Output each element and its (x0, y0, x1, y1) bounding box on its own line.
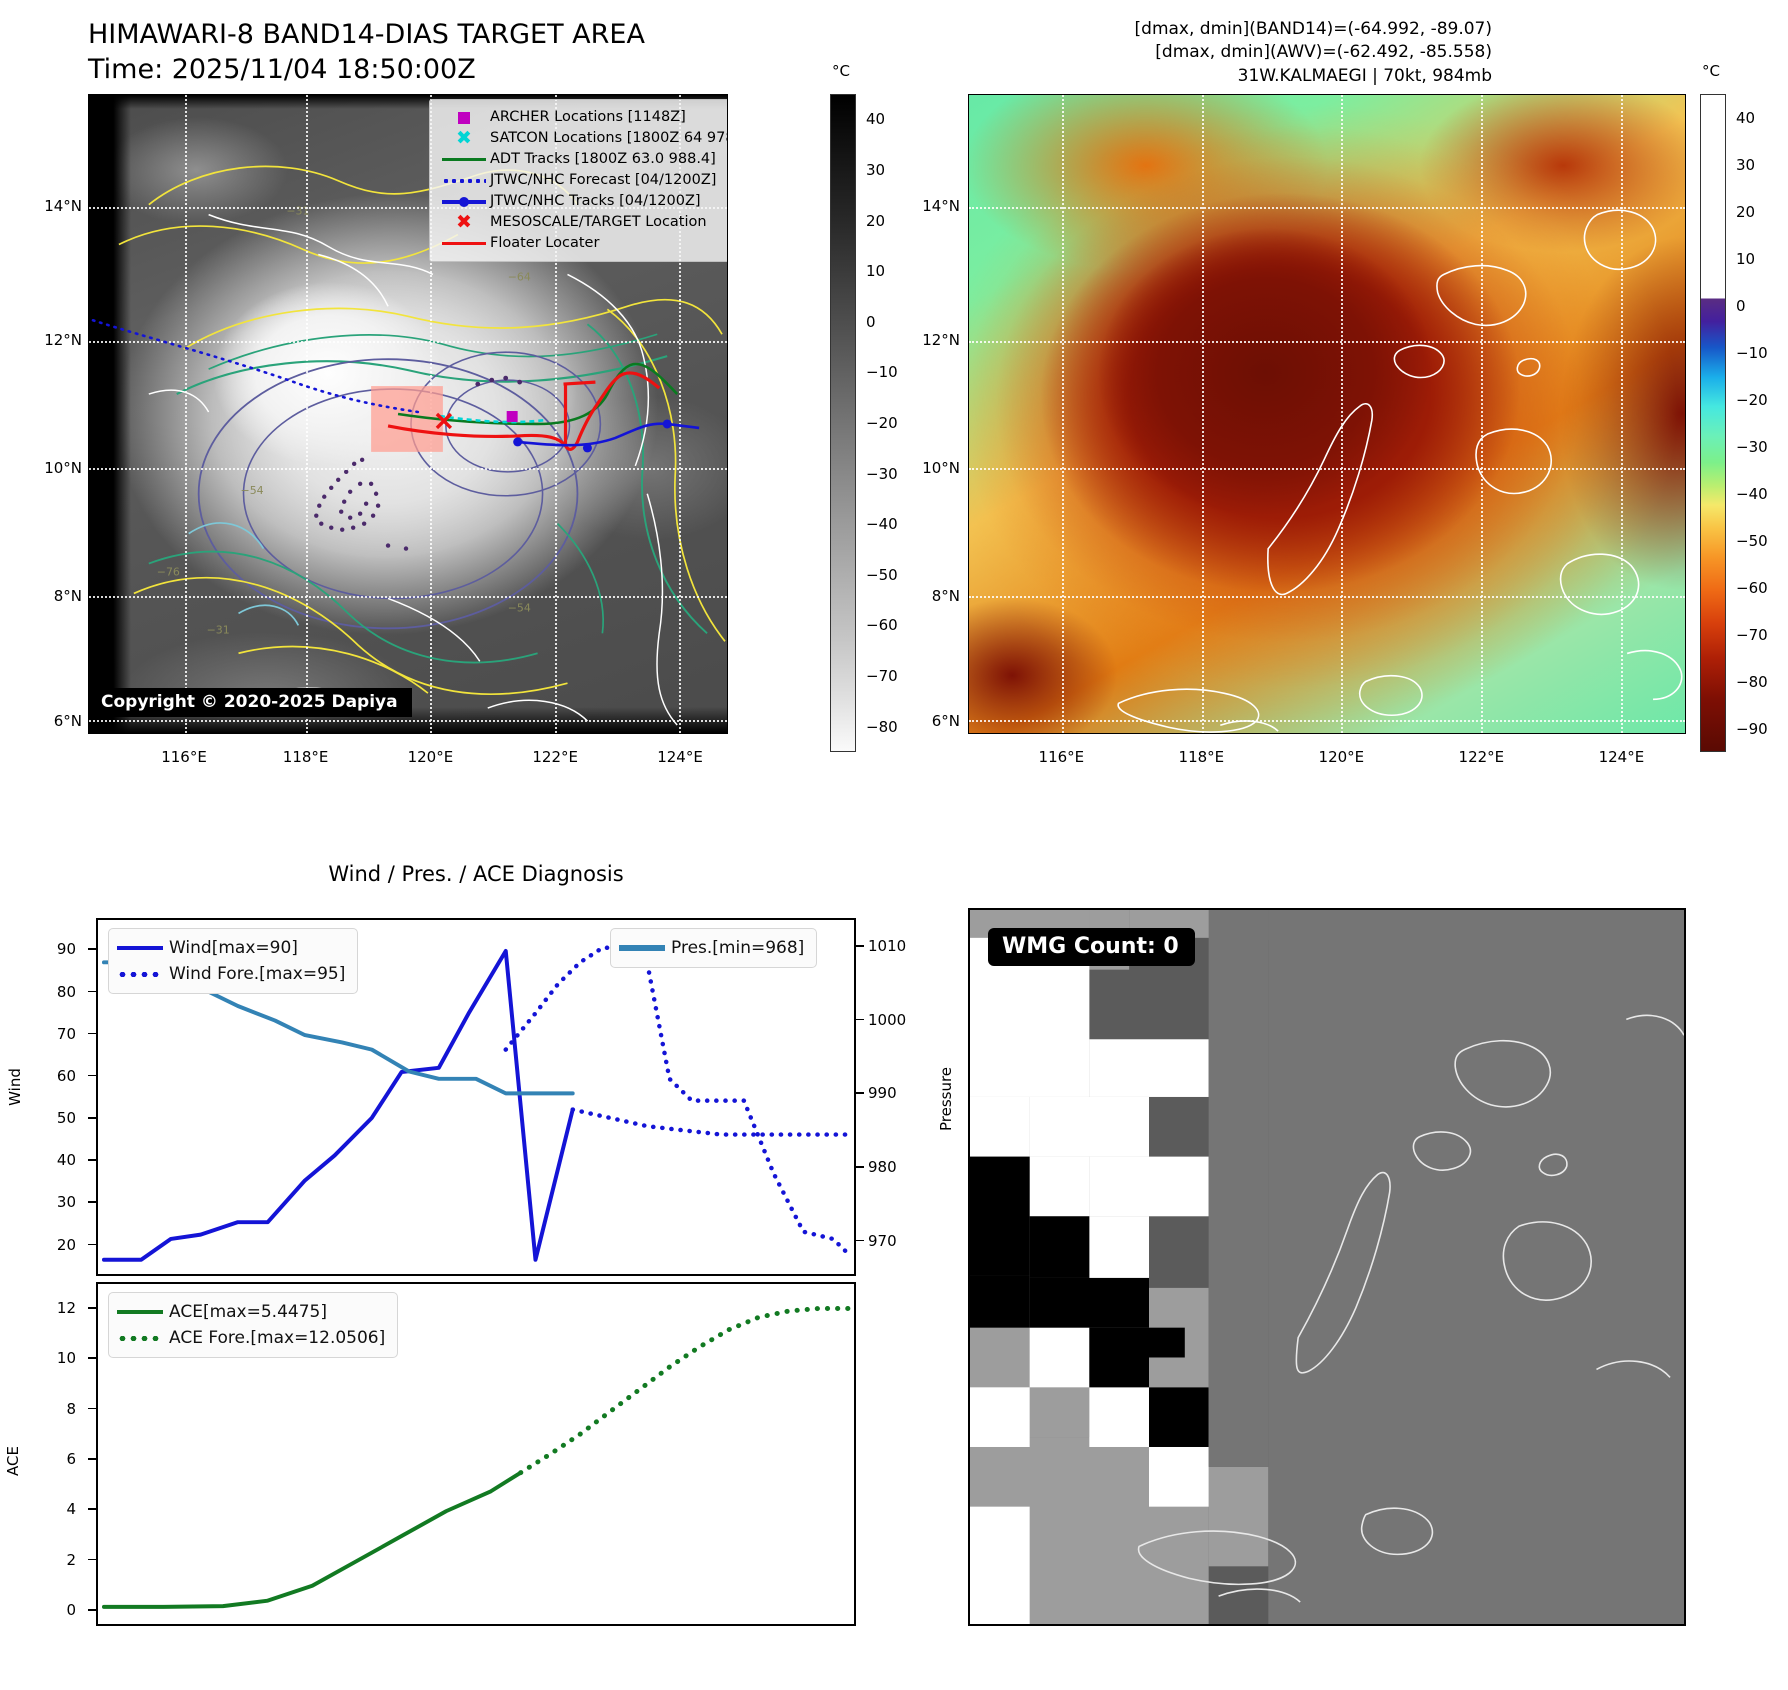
wind-axis-label: Wind (6, 1068, 24, 1106)
tick-mark (88, 1244, 96, 1246)
colorbar-tick: −30 (866, 465, 898, 483)
irc-lon-label-122e: 122°E (1459, 748, 1505, 766)
ace-axis-label: ACE (4, 1446, 22, 1476)
irc-coastline-overlay (969, 95, 1685, 733)
ir-enhanced-map[interactable] (968, 94, 1686, 734)
legend-item-pressure: Pres.[min=968] (619, 935, 804, 961)
colorbar-tick: −70 (1736, 626, 1768, 644)
irc-lon-label-124e: 124°E (1599, 748, 1645, 766)
series-ace-fore-max-12-0506- (521, 1309, 848, 1473)
legend-label: ACE[max=5.4475] (169, 1302, 327, 1322)
green-solid-line-icon (438, 158, 490, 161)
legend-item-satcon: ✖ SATCON Locations [1800Z 64 978] (438, 128, 728, 149)
irc-lat-label-14n: 14°N (900, 197, 960, 215)
colorbar-tick: −40 (866, 515, 898, 533)
colorbar-tick: −20 (1736, 391, 1768, 409)
tick-mark (88, 1559, 96, 1561)
pressure-ytick: 1000 (868, 1011, 914, 1029)
pressure-axis-label: Pressure (937, 1067, 955, 1131)
ir-colorbar-group: °C 403020100−10−20−30−40−50−60−70−80 (830, 62, 940, 752)
colorbar-tick: −60 (866, 616, 898, 634)
ace-ytick: 6 (30, 1450, 76, 1468)
colorbar-tick: −10 (1736, 344, 1768, 362)
ir-band14-map[interactable]: −31 −64 −54 −76 −31 −54 (88, 94, 728, 734)
ir-lon-label-116e: 116°E (161, 748, 207, 766)
title-time: Time: 2025/11/04 18:50:00Z (88, 53, 645, 88)
series-pres-fore- (506, 948, 848, 1254)
colorbar-tick: 30 (1736, 156, 1755, 174)
colorbar-tick: 20 (1736, 203, 1755, 221)
dashboard-root: HIMAWARI-8 BAND14-DIAS TARGET AREA Time:… (0, 0, 1788, 1690)
ir-lat-label-14n: 14°N (22, 197, 82, 215)
irc-colorbar-group: °C 403020100−10−20−30−40−50−60−70−80−90 (1700, 62, 1788, 752)
series-ace-max-5-4475- (104, 1473, 521, 1607)
pressure-legend: Pres.[min=968] (610, 928, 817, 968)
ir-lon-label-120e: 120°E (408, 748, 454, 766)
colorbar-tick: −40 (1736, 485, 1768, 503)
tick-mark (88, 1075, 96, 1077)
legend-label: JTWC/NHC Tracks [04/1200Z] (490, 194, 701, 209)
wmg-raster (970, 910, 1684, 1624)
tick-mark (88, 1357, 96, 1359)
irc-lat-label-10n: 10°N (900, 459, 960, 477)
meta-band14: [dmax, dmin](BAND14)=(-64.992, -89.07) (1135, 18, 1492, 41)
tick-mark (88, 1159, 96, 1161)
legend-item-adt: ADT Tracks [1800Z 63.0 988.4] (438, 149, 728, 170)
series-wind-max-90- (104, 951, 573, 1260)
tick-mark (856, 1019, 864, 1021)
red-x-marker-icon: ✖ (438, 213, 490, 232)
irc-lat-label-6n: 6°N (906, 712, 960, 730)
legend-label: ACE Fore.[max=12.0506] (169, 1328, 385, 1348)
colorbar-tick: −60 (1736, 579, 1768, 597)
colorbar-tick: −80 (1736, 673, 1768, 691)
pressure-ytick: 990 (868, 1084, 914, 1102)
colorbar-tick: −50 (1736, 532, 1768, 550)
legend-label: Pres.[min=968] (671, 938, 804, 958)
wmg-count-badge: WMG Count: 0 (988, 928, 1195, 966)
irc-lon-label-120e: 120°E (1319, 748, 1365, 766)
legend-label: Floater Locater (490, 236, 599, 251)
cyan-x-marker-icon: ✖ (438, 129, 490, 148)
colorbar-tick: 30 (866, 161, 885, 179)
tick-mark (88, 1408, 96, 1410)
wind-ytick: 40 (30, 1151, 76, 1169)
ir-lon-label-118e: 118°E (283, 748, 329, 766)
tick-mark (88, 1609, 96, 1611)
meta-awv: [dmax, dmin](AWV)=(-62.492, -85.558) (1135, 41, 1492, 64)
archer-marker (507, 411, 518, 422)
steel-solid-line-icon (619, 945, 671, 951)
tick-mark (88, 991, 96, 993)
pressure-ytick: 980 (868, 1158, 914, 1176)
wind-ytick: 80 (30, 983, 76, 1001)
red-solid-line-icon (438, 242, 490, 245)
colorbar-tick: −70 (866, 667, 898, 685)
irc-lon-label-116e: 116°E (1039, 748, 1085, 766)
legend-item-jtwc-forecast: JTWC/NHC Forecast [04/1200Z] (438, 170, 728, 191)
magenta-square-marker-icon (438, 112, 490, 124)
ace-ytick: 10 (30, 1349, 76, 1367)
legend-item-jtwc-tracks: JTWC/NHC Tracks [04/1200Z] (438, 191, 728, 212)
diagnosis-title: Wind / Pres. / ACE Diagnosis (328, 862, 623, 886)
tick-mark (88, 1508, 96, 1510)
ir-lat-label-10n: 10°N (22, 459, 82, 477)
legend-item-ace: ACE[max=5.4475] (117, 1299, 385, 1325)
ir-colorbar-gradient (830, 94, 856, 752)
legend-label: MESOSCALE/TARGET Location (490, 215, 707, 230)
colorbar-tick: −20 (866, 414, 898, 432)
legend-label: ADT Tracks [1800Z 63.0 988.4] (490, 152, 716, 167)
copyright-badge: Copyright © 2020-2025 Dapiya (91, 688, 412, 717)
irc-lat-label-12n: 12°N (900, 331, 960, 349)
ir-lat-label-8n: 8°N (28, 587, 82, 605)
colorbar-tick: 0 (1736, 297, 1746, 315)
tick-mark (856, 1092, 864, 1094)
legend-item-ace-forecast: ACE Fore.[max=12.0506] (117, 1325, 385, 1351)
legend-label: SATCON Locations [1800Z 64 978] (490, 131, 728, 146)
tick-mark (88, 1201, 96, 1203)
wind-ytick: 30 (30, 1193, 76, 1211)
tick-mark (88, 1458, 96, 1460)
legend-item-floater: Floater Locater (438, 233, 728, 254)
pressure-ytick: 1010 (868, 937, 914, 955)
colorbar-tick: −30 (1736, 438, 1768, 456)
blue-line-with-dot-icon (438, 200, 490, 204)
colorbar-tick: −90 (1736, 720, 1768, 738)
wind-ytick: 50 (30, 1109, 76, 1127)
colorbar-tick: 20 (866, 212, 885, 230)
legend-label: ARCHER Locations [1148Z] (490, 110, 686, 125)
title-text: HIMAWARI-8 BAND14-DIAS TARGET AREA (88, 18, 645, 53)
legend-item-wind: Wind[max=90] (117, 935, 345, 961)
blue-solid-line-icon (117, 946, 169, 951)
legend-label: Wind Fore.[max=95] (169, 964, 345, 984)
colorbar-tick: 10 (1736, 250, 1755, 268)
colorbar-tick: −50 (866, 566, 898, 584)
ir-lon-label-124e: 124°E (657, 748, 703, 766)
wind-ytick: 90 (30, 940, 76, 958)
colorbar-tick: 40 (866, 110, 885, 128)
tick-mark (88, 948, 96, 950)
colorbar-tick: −10 (866, 363, 898, 381)
tick-mark (88, 1033, 96, 1035)
wind-ytick: 20 (30, 1236, 76, 1254)
legend-item-wind-forecast: Wind Fore.[max=95] (117, 961, 345, 987)
legend-label: JTWC/NHC Forecast [04/1200Z] (490, 173, 716, 188)
ace-ytick: 2 (30, 1551, 76, 1569)
legend-item-archer: ARCHER Locations [1148Z] (438, 107, 728, 128)
green-solid-line-icon (117, 1310, 169, 1315)
series-wind-fore-max-95- (573, 1110, 848, 1135)
irc-lat-label-8n: 8°N (906, 587, 960, 605)
tick-mark (88, 1307, 96, 1309)
ace-ytick: 0 (30, 1601, 76, 1619)
tick-mark (856, 945, 864, 947)
page-title: HIMAWARI-8 BAND14-DIAS TARGET AREA Time:… (88, 18, 645, 87)
metadata-block: [dmax, dmin](BAND14)=(-64.992, -89.07) [… (1135, 18, 1492, 88)
tick-mark (856, 1166, 864, 1168)
ir-colorbar-unit: °C (832, 62, 850, 80)
wind-ytick: 60 (30, 1067, 76, 1085)
ace-ytick: 12 (30, 1299, 76, 1317)
ir-map-legend: ARCHER Locations [1148Z] ✖ SATCON Locati… (429, 99, 728, 262)
tick-mark (856, 1240, 864, 1242)
ace-chart[interactable]: ACE[max=5.4475] ACE Fore.[max=12.0506] (96, 1282, 856, 1626)
wmg-map[interactable]: WMG Count: 0 (968, 908, 1686, 1626)
irc-lon-label-118e: 118°E (1179, 748, 1225, 766)
wind-pressure-chart[interactable]: Wind[max=90] Wind Fore.[max=95] Pres.[mi… (96, 918, 856, 1276)
ir-lon-label-122e: 122°E (532, 748, 578, 766)
legend-label: Wind[max=90] (169, 938, 298, 958)
wind-legend: Wind[max=90] Wind Fore.[max=95] (108, 928, 358, 994)
ir-lat-label-6n: 6°N (28, 712, 82, 730)
colorbar-tick: −80 (866, 718, 898, 736)
colorbar-tick: 10 (866, 262, 885, 280)
colorbar-tick: 0 (866, 313, 876, 331)
pressure-ytick: 970 (868, 1232, 914, 1250)
ace-legend: ACE[max=5.4475] ACE Fore.[max=12.0506] (108, 1292, 398, 1358)
blue-dotted-line-icon (438, 179, 490, 183)
ace-ytick: 8 (30, 1400, 76, 1418)
blue-dotted-line-icon (117, 972, 169, 977)
jtwc-forecast-track (93, 320, 418, 412)
green-dotted-line-icon (117, 1336, 169, 1341)
tick-mark (88, 1117, 96, 1119)
jtwc-track (518, 424, 699, 446)
legend-item-mesoscale: ✖ MESOSCALE/TARGET Location (438, 212, 728, 233)
ace-ytick: 4 (30, 1500, 76, 1518)
meta-storm: 31W.KALMAEGI | 70kt, 984mb (1135, 65, 1492, 88)
colorbar-tick: 40 (1736, 109, 1755, 127)
irc-colorbar-gradient (1700, 94, 1726, 752)
wind-ytick: 70 (30, 1025, 76, 1043)
irc-colorbar-unit: °C (1702, 62, 1720, 80)
ir-lat-label-12n: 12°N (22, 331, 82, 349)
